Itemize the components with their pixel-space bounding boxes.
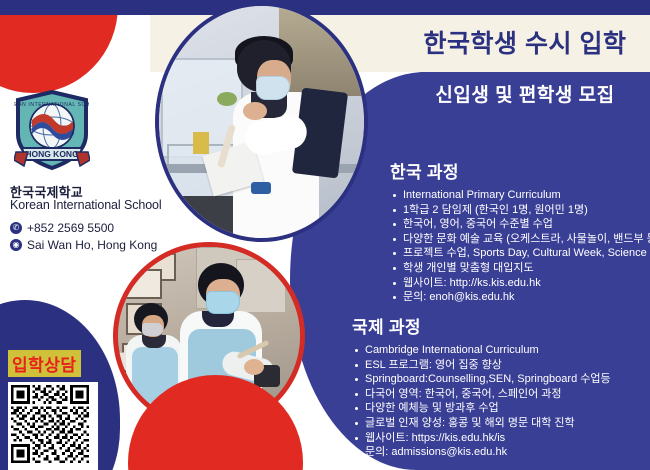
- poster-root: 한국학생 수시 입학 신입생 및 편학생 모집: [0, 0, 650, 470]
- lab-plant: [217, 92, 237, 106]
- list-item-website[interactable]: 웹사이트: http://ks.kis.edu.hk: [390, 276, 650, 291]
- list-item: 학생 개인별 맞춤형 대입지도: [390, 261, 650, 276]
- list-item-email[interactable]: 문의: enoh@kis.edu.hk: [390, 290, 650, 305]
- art-student2-mask: [142, 323, 163, 336]
- list-item: 다국어 영역: 한국어, 중국어, 스페인어 과정: [352, 387, 611, 402]
- list-item: 한국어, 영어, 중국어 수준별 수업: [390, 217, 650, 232]
- student-wristwatch: [251, 182, 271, 194]
- contact-phone: ✆ +852 2569 5500: [10, 221, 114, 235]
- list-item: 프로젝트 수업, Sports Day, Cultural Week, Scie…: [390, 246, 650, 261]
- art-student1-hand: [244, 359, 264, 375]
- qr-code[interactable]: [8, 382, 98, 470]
- phone-icon: ✆: [10, 222, 22, 234]
- list-item: ESL 프로그램: 영어 집중 향상: [352, 358, 611, 373]
- contact-address-text: Sai Wan Ho, Hong Kong: [27, 238, 157, 252]
- school-name-en: Korean International School: [10, 198, 162, 212]
- lab-bottle: [193, 132, 209, 154]
- banner-title: 한국학생 수시 입학: [400, 22, 650, 66]
- international-course-list: Cambridge International Curriculum ESL 프…: [352, 343, 611, 460]
- list-item: 1학급 2 담임제 (한국인 1명, 원어민 1명): [390, 203, 650, 218]
- wall-picture-frame-1: [124, 269, 162, 299]
- list-item: 글로벌 인재 양성: 홍콩 및 해외 명문 대학 진학: [352, 416, 611, 431]
- list-item-email[interactable]: 문의: admissions@kis.edu.hk: [352, 445, 611, 460]
- korean-course-list: International Primary Curriculum 1학급 2 담…: [390, 188, 650, 305]
- art-student1-mask: [206, 291, 240, 314]
- list-item-website[interactable]: 웹사이트: https://kis.edu.hk/is: [352, 431, 611, 446]
- contact-address: ◉ Sai Wan Ho, Hong Kong: [10, 238, 157, 252]
- school-crest-logo: HONG KONG KOREAN INTERNATIONAL SCHOOL: [14, 90, 90, 172]
- svg-text:KOREAN INTERNATIONAL SCHOOL: KOREAN INTERNATIONAL SCHOOL: [14, 102, 90, 108]
- international-course-section: 국제 과정 Cambridge International Curriculum…: [352, 313, 611, 460]
- location-pin-icon: ◉: [10, 239, 22, 251]
- list-item: Springboard:Counselling,SEN, Springboard…: [352, 372, 611, 387]
- qr-label: 입학상담: [8, 350, 81, 377]
- international-course-title: 국제 과정: [352, 313, 611, 338]
- banner-subtitle: 신입생 및 편학생 모집: [400, 80, 650, 107]
- student-hand: [243, 102, 267, 120]
- qr-code-icon: [11, 385, 89, 463]
- svg-text:HONG KONG: HONG KONG: [25, 149, 79, 159]
- list-item: 다양한 문화 예술 교육 (오케스트라, 사물놀이, 밴드부 등): [390, 232, 650, 247]
- science-lab-photo: [155, 2, 368, 242]
- crest-icon: HONG KONG KOREAN INTERNATIONAL SCHOOL: [14, 90, 90, 172]
- list-item: International Primary Curriculum: [390, 188, 650, 203]
- student-face-mask: [256, 76, 290, 100]
- list-item: Cambridge International Curriculum: [352, 343, 611, 358]
- korean-course-section: 한국 과정 International Primary Curriculum 1…: [390, 158, 650, 305]
- list-item: 다양한 예체능 및 방과후 수업: [352, 401, 611, 416]
- korean-course-title: 한국 과정: [390, 158, 650, 183]
- contact-phone-text: +852 2569 5500: [27, 221, 114, 235]
